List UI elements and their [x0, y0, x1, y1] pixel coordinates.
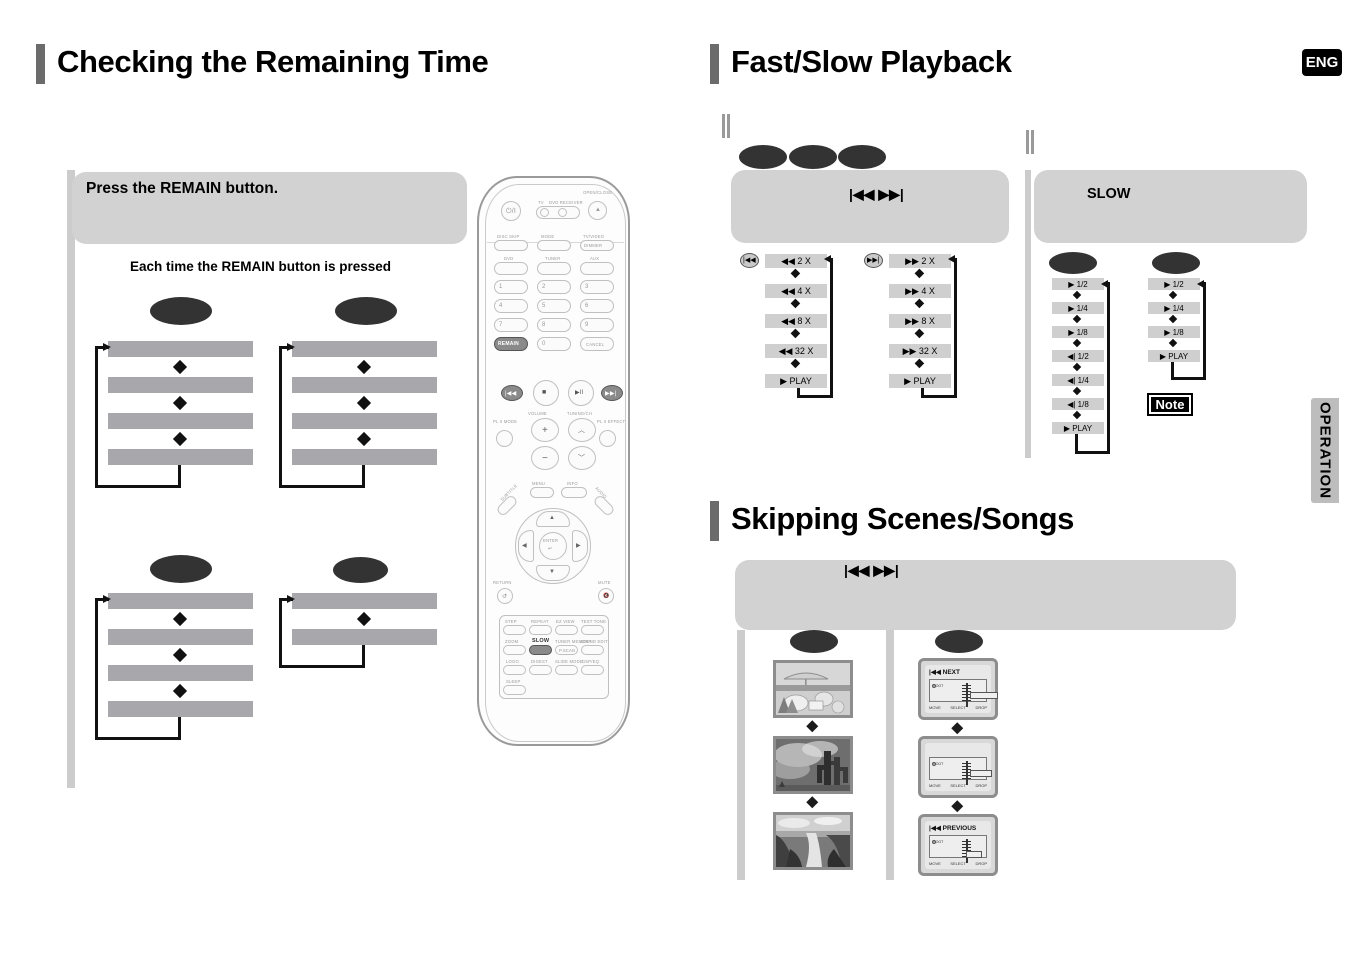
skipping-panel	[735, 560, 1236, 630]
osd-screen-previous: |◀◀ PREVIOUS ROOT MOVE SELECT DROP	[918, 814, 998, 876]
pl-effect-button[interactable]	[599, 430, 616, 447]
flow-c-step-3	[108, 665, 253, 681]
skipping-right-label-ellipse	[935, 630, 983, 653]
osd-middle-footer-move: MOVE	[929, 783, 941, 788]
fast-flow-1-loop-right	[830, 258, 833, 398]
mode-button[interactable]	[537, 240, 571, 251]
slow-flow-2-loop-arrowhead	[1197, 280, 1204, 288]
osd-screen-next: |◀◀ NEXT ROOT MOVE SELECT DROP	[918, 658, 998, 720]
fast-flow-2-step-1: ▶▶ 2 X	[889, 254, 951, 268]
repeat-label: REPEAT	[531, 619, 549, 624]
key-0-label: 0	[542, 341, 546, 347]
slow-flow-1-step-6: ◀| 1/8	[1052, 398, 1104, 410]
flow-b-step-1	[292, 341, 437, 357]
key-8-label: 8	[542, 322, 546, 328]
slow-flow-2-step-4: ▶ PLAY	[1148, 350, 1200, 362]
fast-flow-2-loop-up	[921, 388, 924, 398]
sound-edit-label: SOUND EDIT	[580, 639, 608, 644]
fast-playback-panel	[731, 170, 1009, 243]
osd-radio-icon	[932, 684, 936, 688]
tuning-label: TUNING/CH	[567, 411, 592, 416]
section-title-accent-bar-skipping	[710, 501, 719, 541]
slide-mode-label: SLIDE MODE	[555, 659, 583, 664]
fast-flow-1-step-3: ◀◀ 8 X	[765, 314, 827, 328]
dvd-source-button[interactable]	[494, 262, 528, 275]
key-5-label: 5	[542, 303, 546, 309]
skipping-left-label-ellipse	[790, 630, 838, 653]
flow-b-step-2	[292, 377, 437, 393]
dsp-eq-label: DSP/EQ	[582, 659, 599, 664]
fast-flow-2-step-4: ▶▶ 32 X	[889, 344, 951, 358]
test-tone-button[interactable]	[581, 625, 604, 635]
slow-button[interactable]	[529, 645, 552, 655]
operation-side-tab: OPERATION	[1311, 398, 1339, 503]
osd-next-footer-select: SELECT	[950, 705, 966, 710]
tuner-source-label: TUNER	[545, 256, 560, 261]
plus-icon: +	[542, 425, 548, 436]
osd-previous-title: |◀◀ PREVIOUS	[929, 824, 976, 832]
skipping-column-divider	[886, 630, 894, 880]
slow-flow-1-loop-bottom	[1075, 451, 1110, 454]
chevron-down-icon: ﹀	[578, 453, 585, 463]
page-title-remaining-time: Checking the Remaining Time	[57, 44, 488, 80]
osd-next-title: |◀◀ NEXT	[929, 668, 960, 676]
thumbnail-cactus-desert	[773, 736, 853, 794]
flow-d-step-2	[292, 629, 437, 645]
flow-a-step-3	[108, 413, 253, 429]
flow-c-loop-bottom	[95, 737, 181, 740]
note-badge: Note	[1147, 393, 1193, 416]
fast-flow-1-loop-arrowhead	[824, 255, 831, 263]
slow-label: SLOW	[532, 638, 549, 644]
disc-skip-button[interactable]	[494, 240, 528, 251]
tv-video-label: TV/VIDEO	[583, 234, 604, 239]
chevron-up-icon: ︿	[578, 425, 585, 435]
fast-ellipse-2	[789, 145, 837, 169]
enter-button[interactable]	[539, 532, 567, 560]
flow-b-loop-arrowhead	[287, 343, 295, 351]
digest-label: DIGEST	[531, 659, 548, 664]
flow-c-loop-arrowhead	[103, 595, 111, 603]
osd-radio-icon	[932, 840, 936, 844]
enter-button-label: ENTER	[543, 538, 558, 543]
ez-view-button[interactable]	[555, 625, 578, 635]
tuner-source-button[interactable]	[537, 262, 571, 275]
flow-a-label-ellipse	[150, 297, 212, 325]
osd-screen-middle: ROOT MOVE SELECT DROP	[918, 736, 998, 798]
flow-c-step-1	[108, 593, 253, 609]
fast-flow-1-step-1: ◀◀ 2 X	[765, 254, 827, 268]
repeat-button[interactable]	[529, 625, 552, 635]
logo-button[interactable]	[503, 665, 526, 675]
step-marker-slow	[1026, 130, 1035, 154]
skipping-left-rail	[737, 630, 745, 880]
osd-next-footer-move: MOVE	[929, 705, 941, 710]
slow-playback-panel	[1034, 170, 1307, 243]
flow-a-step-2	[108, 377, 253, 393]
osd-previous-footer-select: SELECT	[950, 861, 966, 866]
fastslow-column-divider	[1025, 170, 1031, 458]
flow-c-label-ellipse	[150, 555, 212, 583]
step-label: STEP	[505, 619, 517, 624]
slow-flow-1-step-2: ▶ 1/4	[1052, 302, 1104, 314]
flow-b-label-ellipse	[335, 297, 397, 325]
skip-forward-icon: ▶▶|	[605, 390, 616, 397]
key-1-label: 1	[499, 284, 503, 290]
flow-a-step-1	[108, 341, 253, 357]
pl-mode-button[interactable]	[496, 430, 513, 447]
osd-previous-footer-move: MOVE	[929, 861, 941, 866]
disc-skip-label: DISC SKIP	[497, 234, 520, 239]
return-label: RETURN	[493, 580, 512, 585]
section-title-accent-bar-fastslow	[710, 44, 719, 84]
slow-flow-2-loop-bottom	[1171, 377, 1206, 380]
arrow-right-icon: ▶	[576, 542, 581, 549]
fast-flow-2-icon-glyph: ▶▶|	[867, 256, 880, 264]
slow-flow-1-step-1: ▶ 1/2	[1052, 278, 1104, 290]
digest-button[interactable]	[529, 665, 552, 675]
key-7-label: 7	[499, 322, 503, 328]
thumbnail-patio-umbrella	[773, 660, 853, 718]
flow-b-step-4	[292, 449, 437, 465]
step-button[interactable]	[503, 625, 526, 635]
key-4-label: 4	[499, 303, 503, 309]
sleep-label: SLEEP	[506, 679, 521, 684]
arrow-down-icon: ▼	[549, 569, 555, 575]
slow-flow-1-step-3: ▶ 1/8	[1052, 326, 1104, 338]
slow-flow-2-label-ellipse	[1152, 252, 1200, 274]
eject-icon: ▲	[595, 207, 601, 213]
flow-a-step-4	[108, 449, 253, 465]
fast-flow-1-step-5: ▶ PLAY	[765, 374, 827, 388]
thumbnail-river-landscape	[773, 812, 853, 870]
slow-flow-1-step-5: ◀| 1/4	[1052, 374, 1104, 386]
fast-flow-2-loop-bottom	[921, 395, 957, 398]
key-9-label: 9	[585, 322, 589, 328]
fast-flow-2-step-5: ▶ PLAY	[889, 374, 951, 388]
zoom-button[interactable]	[503, 645, 526, 655]
patio-umbrella-photo	[776, 663, 850, 715]
dvd-remote-control: ⏻/I TV DVD RECEIVER OPEN/CLOSE ▲ DISC SK…	[477, 176, 630, 746]
skip-back-icon: |◀◀	[929, 825, 941, 832]
menu-label: MENU	[532, 481, 545, 486]
fast-flow-1-step-4: ◀◀ 32 X	[765, 344, 827, 358]
sleep-button[interactable]	[503, 685, 526, 695]
slow-flow-2-loop-right	[1203, 282, 1206, 380]
flow-a-loop-up	[95, 346, 98, 488]
flow-d-loop-up	[279, 598, 282, 668]
test-tone-label: TEST TONE	[581, 619, 606, 624]
left-panel-rail	[67, 170, 75, 788]
slide-mode-button[interactable]	[555, 665, 578, 675]
flow-d-loop-arrowhead	[287, 595, 295, 603]
return-icon: ↺	[502, 593, 507, 600]
cactus-desert-photo	[776, 739, 850, 791]
fast-flow-2-loop-arrowhead	[948, 255, 955, 263]
skip-back-icon: |◀◀	[929, 669, 941, 676]
flow-d-loop-bottom	[279, 665, 365, 668]
power-icon: ⏻/I	[506, 208, 516, 216]
remain-subtitle: Each time the REMAIN button is pressed	[130, 259, 391, 274]
slow-flow-2-step-3: ▶ 1/8	[1148, 326, 1200, 338]
sound-edit-button[interactable]	[581, 645, 604, 655]
skipping-panel-label: |◀◀ ▶▶|	[844, 562, 899, 579]
aux-source-label: AUX	[590, 256, 599, 261]
flow-b-loop-up	[279, 346, 282, 488]
logo-label: LOGO	[506, 659, 519, 664]
section-title-accent-bar-left	[36, 44, 45, 84]
flow-c-loop-up	[95, 598, 98, 740]
slow-flow-1-loop-arrowhead	[1101, 280, 1108, 288]
step-marker-fast	[722, 114, 731, 138]
osd-middle-footer-select: SELECT	[950, 783, 966, 788]
slow-flow-1-loop-up	[1075, 434, 1078, 454]
play-pause-icon: ▶II	[575, 389, 584, 396]
flow-a-loop-bottom	[95, 485, 181, 488]
dvd-select-led[interactable]	[558, 208, 567, 217]
flow-a-loop-arrowhead	[103, 343, 111, 351]
fast-flow-2-loop-right	[954, 258, 957, 398]
slow-flow-2-loop-up	[1171, 362, 1174, 380]
fast-flow-1-step-2: ◀◀ 4 X	[765, 284, 827, 298]
tv-label: TV	[538, 200, 544, 205]
dvd-receiver-label: DVD RECEIVER	[549, 200, 583, 205]
fast-flow-1-loop-bottom	[797, 395, 833, 398]
flow-b-step-3	[292, 413, 437, 429]
flow-c-step-4	[108, 701, 253, 717]
stop-icon: ■	[542, 389, 546, 396]
flow-b-loop-bottom	[279, 485, 365, 488]
arrow-up-icon: ▲	[549, 515, 555, 521]
cancel-button-label: CANCEL	[586, 342, 604, 347]
dsp-eq-button[interactable]	[581, 665, 604, 675]
fast-flow-2-step-2: ▶▶ 4 X	[889, 284, 951, 298]
enter-icon: ↵	[548, 546, 552, 552]
fast-panel-label: |◀◀ ▶▶|	[849, 186, 904, 203]
fast-ellipse-1	[739, 145, 787, 169]
remain-button-label: REMAIN	[498, 341, 519, 347]
mute-label: MUTE	[598, 580, 611, 585]
volume-label: VOLUME	[528, 411, 547, 416]
arrow-left-icon: ◀	[522, 542, 527, 549]
slow-flow-1-loop-right	[1107, 282, 1110, 454]
key-3-label: 3	[585, 284, 589, 290]
aux-source-button[interactable]	[580, 262, 614, 275]
flow-d-label-ellipse	[333, 557, 388, 583]
minus-icon: −	[542, 453, 548, 464]
open-close-label: OPEN/CLOSE	[583, 190, 612, 195]
mute-icon: 🔇	[603, 593, 609, 599]
flow-d-step-1	[292, 593, 437, 609]
ez-view-label: EZ VIEW	[556, 619, 575, 624]
language-badge: ENG	[1302, 49, 1342, 76]
slow-flow-1-step-7: ▶ PLAY	[1052, 422, 1104, 434]
key-2-label: 2	[542, 284, 546, 290]
skip-back-icon: |◀◀	[505, 390, 516, 397]
osd-next-footer-drop: DROP	[975, 705, 987, 710]
river-landscape-photo	[776, 815, 850, 867]
dimmer-label: DIMMER	[584, 243, 602, 248]
pl-mode-label: PL II MODE	[493, 419, 517, 424]
tv-select-led[interactable]	[540, 208, 549, 217]
fast-flow-1-icon-glyph: |◀◀	[743, 256, 756, 264]
info-button[interactable]	[561, 487, 587, 498]
slow-flow-1-step-4: ◀| 1/2	[1052, 350, 1104, 362]
osd-middle-footer-drop: DROP	[975, 783, 987, 788]
mode-label: MODE	[541, 234, 554, 239]
dvd-source-label: DVD	[504, 256, 513, 261]
pl-effect-label: PL II EFFECT	[597, 419, 625, 424]
osd-previous-footer-drop: DROP	[975, 861, 987, 866]
slow-flow-2-step-1: ▶ 1/2	[1148, 278, 1200, 290]
fast-flow-2-step-3: ▶▶ 8 X	[889, 314, 951, 328]
slow-flow-2-step-2: ▶ 1/4	[1148, 302, 1200, 314]
fast-flow-1-loop-up	[797, 388, 800, 398]
key-6-label: 6	[585, 303, 589, 309]
osd-radio-icon	[932, 762, 936, 766]
section-title-fast-slow: Fast/Slow Playback	[731, 44, 1012, 80]
info-label: INFO	[567, 481, 578, 486]
section-title-skipping: Skipping Scenes/Songs	[731, 501, 1074, 537]
menu-button[interactable]	[530, 487, 554, 498]
flow-c-step-2	[108, 629, 253, 645]
slow-flow-1-label-ellipse	[1049, 252, 1097, 274]
zoom-label: ZOOM	[505, 639, 518, 644]
pscan-label: P.SCAN	[559, 648, 575, 653]
slow-panel-label: SLOW	[1087, 186, 1131, 202]
fast-ellipse-3	[838, 145, 886, 169]
instruction-text: Press the REMAIN button.	[86, 180, 278, 198]
